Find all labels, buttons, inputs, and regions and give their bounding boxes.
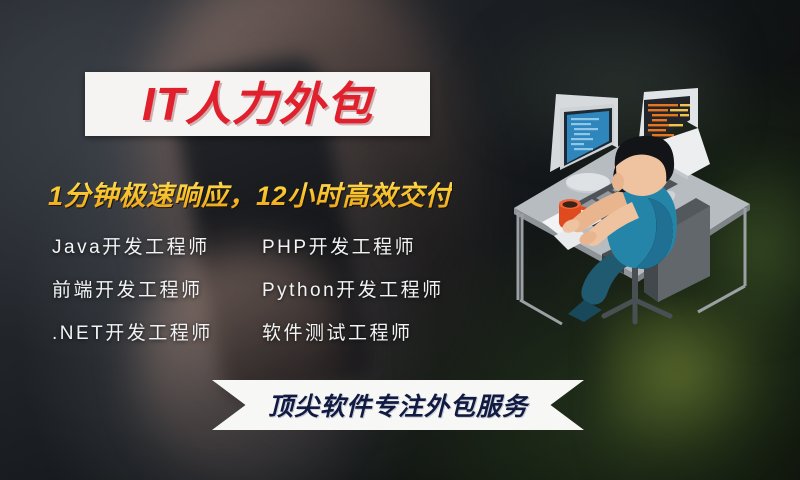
developer-at-desk-illustration	[498, 86, 800, 326]
subtitle-tagline: 1分钟极速响应，12小时高效交付	[48, 174, 452, 213]
service-row: Java开发工程师 PHP开发工程师	[52, 224, 492, 267]
service-list: Java开发工程师 PHP开发工程师 前端开发工程师 Python开发工程师 .…	[52, 224, 492, 353]
ribbon-slogan: 顶尖软件专注外包服务	[268, 387, 528, 423]
service-item-php: PHP开发工程师	[262, 232, 416, 259]
title-banner: IT人力外包	[85, 72, 430, 136]
service-item-frontend: 前端开发工程师	[52, 275, 262, 302]
service-item-python: Python开发工程师	[262, 275, 444, 302]
page-title: IT人力外包	[142, 81, 373, 127]
service-item-qa: 软件测试工程师	[262, 318, 413, 345]
monitor-icon	[550, 94, 618, 193]
poster-canvas: IT人力外包 1分钟极速响应，12小时高效交付 Java开发工程师 PHP开发工…	[0, 0, 800, 480]
service-item-java: Java开发工程师	[52, 232, 262, 259]
service-row: .NET开发工程师 软件测试工程师	[52, 310, 492, 353]
service-item-dotnet: .NET开发工程师	[52, 318, 262, 345]
bottom-ribbon-banner: 顶尖软件专注外包服务	[212, 380, 584, 430]
service-row: 前端开发工程师 Python开发工程师	[52, 267, 492, 310]
